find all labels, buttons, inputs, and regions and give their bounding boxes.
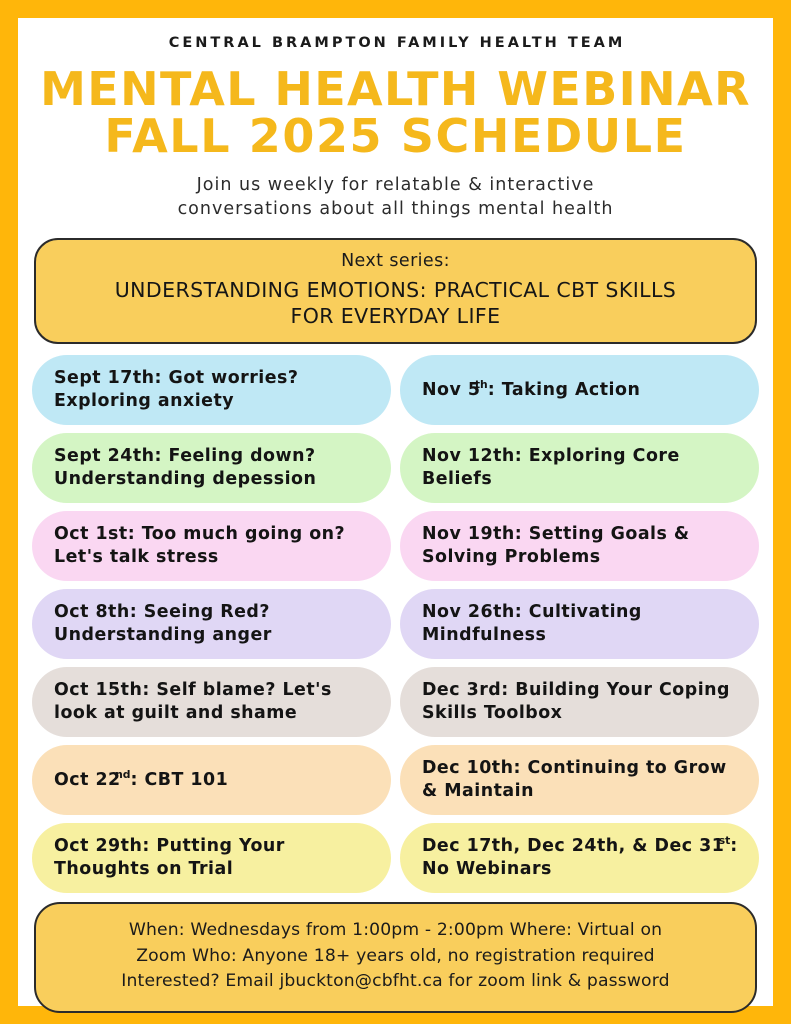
- schedule-pill-text: Nov 26th: Cultivating Mindfulness: [422, 601, 743, 647]
- schedule-pill-date-ordinal: st: [719, 834, 731, 847]
- footer-line-who: Zoom Who: Anyone 18+ years old, no regis…: [56, 944, 735, 969]
- tagline-line-1: Join us weekly for relatable & interacti…: [18, 173, 773, 197]
- schedule-pill-text: Oct 15th: Self blame? Let's look at guil…: [54, 679, 375, 725]
- schedule-pill-left-2: Sept 24th: Feeling down? Understanding d…: [32, 433, 391, 503]
- schedule-pill-text: Dec 17th, Dec 24th, & Dec 31st: No Webin…: [422, 835, 743, 881]
- tagline: Join us weekly for relatable & interacti…: [18, 173, 773, 221]
- schedule-pill-text: Oct 1st: Too much going on? Let's talk s…: [54, 523, 375, 569]
- schedule-pill-date: Dec 17th, Dec 24th, & Dec 31: [422, 836, 724, 856]
- details-footer: When: Wednesdays from 1:00pm - 2:00pm Wh…: [34, 902, 757, 1012]
- schedule-pill-text: Sept 24th: Feeling down? Understanding d…: [54, 445, 375, 491]
- schedule-pill-text: Oct 8th: Seeing Red? Understanding anger: [54, 601, 375, 647]
- schedule-pill-text: Oct 22nd: CBT 101: [54, 769, 228, 792]
- schedule-pill-right-3: Nov 19th: Setting Goals & Solving Proble…: [400, 511, 759, 581]
- schedule-pill-date: Dec 10th: [422, 758, 514, 778]
- schedule-pill-right-5: Dec 3rd: Building Your Coping Skills Too…: [400, 667, 759, 737]
- poster-root: CENTRAL BRAMPTON FAMILY HEALTH TEAM MENT…: [0, 0, 791, 1024]
- schedule-pill-left-1: Sept 17th: Got worries? Exploring anxiet…: [32, 355, 391, 425]
- schedule-pill-date: Oct 29th: [54, 836, 142, 856]
- next-series-title-line-2: FOR EVERYDAY LIFE: [52, 303, 739, 329]
- schedule-pill-left-3: Oct 1st: Too much going on? Let's talk s…: [32, 511, 391, 581]
- tagline-line-2: conversations about all things mental he…: [18, 197, 773, 221]
- schedule-pill-left-4: Oct 8th: Seeing Red? Understanding anger: [32, 589, 391, 659]
- schedule-pill-date: Nov 19th: [422, 524, 515, 544]
- schedule-pill-left-5: Oct 15th: Self blame? Let's look at guil…: [32, 667, 391, 737]
- schedule-pill-date: Nov 5: [422, 380, 481, 400]
- schedule-pill-left-6: Oct 22nd: CBT 101: [32, 745, 391, 815]
- schedule-pill-text: Nov 5th: Taking Action: [422, 379, 640, 402]
- schedule-pill-date-ordinal: th: [475, 378, 488, 391]
- schedule-pill-text: Dec 10th: Continuing to Grow & Maintain: [422, 757, 743, 803]
- schedule-pill-date: Oct 1st: [54, 524, 128, 544]
- schedule-column-right: Nov 5th: Taking ActionNov 12th: Explorin…: [400, 355, 759, 893]
- schedule-pill-text: Nov 12th: Exploring Core Beliefs: [422, 445, 743, 491]
- schedule-pill-date: Oct 8th: [54, 602, 130, 622]
- schedule-pill-date: Oct 15th: [54, 680, 142, 700]
- schedule-pill-right-1: Nov 5th: Taking Action: [400, 355, 759, 425]
- schedule-pill-title: : CBT 101: [130, 770, 228, 790]
- schedule-pill-date: Nov 12th: [422, 446, 515, 466]
- schedule-pill-date: Nov 26th: [422, 602, 515, 622]
- title-line-2: FALL 2025 SCHEDULE: [34, 113, 757, 160]
- footer-line-when-where: When: Wednesdays from 1:00pm - 2:00pm Wh…: [56, 918, 735, 943]
- poster-header: CENTRAL BRAMPTON FAMILY HEALTH TEAM MENT…: [18, 18, 773, 221]
- schedule-pill-date: Oct 22: [54, 770, 121, 790]
- schedule-pill-title: : Taking Action: [488, 380, 641, 400]
- schedule-pill-date: Sept 24th: [54, 446, 155, 466]
- schedule-pill-right-7: Dec 17th, Dec 24th, & Dec 31st: No Webin…: [400, 823, 759, 893]
- schedule-pill-date-ordinal: nd: [115, 768, 130, 781]
- next-series-kicker: Next series:: [52, 250, 739, 273]
- next-series-title: UNDERSTANDING EMOTIONS: PRACTICAL CBT SK…: [52, 277, 739, 329]
- title-line-1: MENTAL HEALTH WEBINAR: [40, 62, 751, 116]
- organization-name: CENTRAL BRAMPTON FAMILY HEALTH TEAM: [18, 36, 773, 52]
- schedule-pill-right-4: Nov 26th: Cultivating Mindfulness: [400, 589, 759, 659]
- next-series-title-line-1: UNDERSTANDING EMOTIONS: PRACTICAL CBT SK…: [52, 277, 739, 303]
- schedule-pill-right-6: Dec 10th: Continuing to Grow & Maintain: [400, 745, 759, 815]
- next-series-banner: Next series: UNDERSTANDING EMOTIONS: PRA…: [34, 238, 757, 344]
- schedule-pill-left-7: Oct 29th: Putting Your Thoughts on Trial: [32, 823, 391, 893]
- footer-line-contact: Interested? Email jbuckton@cbfht.ca for …: [56, 969, 735, 994]
- schedule-column-left: Sept 17th: Got worries? Exploring anxiet…: [32, 355, 391, 893]
- page-title: MENTAL HEALTH WEBINAR FALL 2025 SCHEDULE: [18, 66, 773, 160]
- schedule-pill-right-2: Nov 12th: Exploring Core Beliefs: [400, 433, 759, 503]
- schedule-pill-date: Sept 17th: [54, 368, 155, 388]
- schedule-grid: Sept 17th: Got worries? Exploring anxiet…: [32, 355, 759, 893]
- schedule-pill-text: Sept 17th: Got worries? Exploring anxiet…: [54, 367, 375, 413]
- schedule-pill-text: Oct 29th: Putting Your Thoughts on Trial: [54, 835, 375, 881]
- poster-page: CENTRAL BRAMPTON FAMILY HEALTH TEAM MENT…: [18, 18, 773, 1006]
- schedule-pill-text: Dec 3rd: Building Your Coping Skills Too…: [422, 679, 743, 725]
- schedule-pill-text: Nov 19th: Setting Goals & Solving Proble…: [422, 523, 743, 569]
- schedule-pill-date: Dec 3rd: [422, 680, 501, 700]
